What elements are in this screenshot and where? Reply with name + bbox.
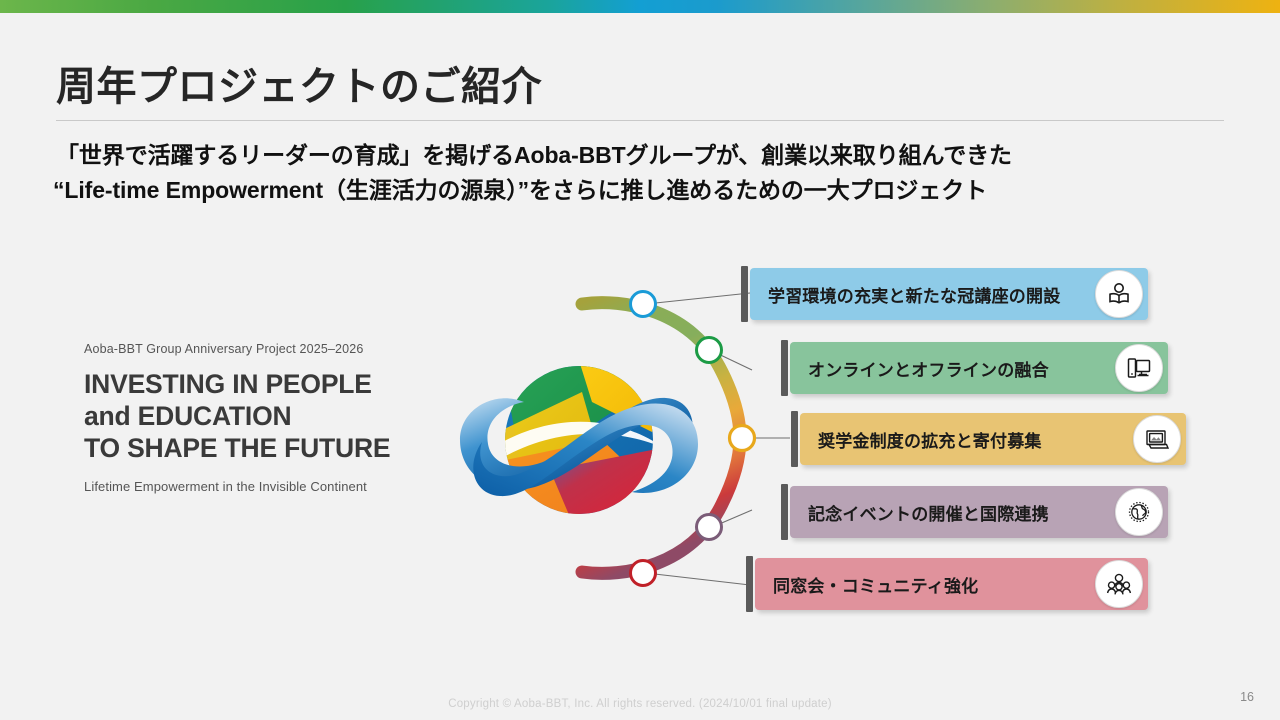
- card-accent-bar: [791, 411, 798, 467]
- item-card-anniversary-event[interactable]: 記念イベントの開催と国際連携: [790, 486, 1168, 538]
- item-card-scholarship-donation[interactable]: 奨学金制度の拡充と寄付募集: [800, 413, 1186, 465]
- card-accent-bar: [746, 556, 753, 612]
- slide-root: 周年プロジェクトのご紹介 「世界で活躍するリーダーの育成」を掲げるAoba-BB…: [0, 0, 1280, 720]
- card-accent-bar: [781, 340, 788, 396]
- brand-subline: Lifetime Empowerment in the Invisible Co…: [84, 479, 424, 494]
- brand-headline: INVESTING IN PEOPLE and EDUCATION TO SHA…: [84, 369, 424, 464]
- item-label: 奨学金制度の拡充と寄付募集: [818, 427, 1042, 452]
- page-title: 周年プロジェクトのご紹介: [56, 54, 542, 112]
- copyright-footer: Copyright © Aoba-BBT, Inc. All rights re…: [0, 698, 1280, 710]
- brand-block: Aoba-BBT Group Anniversary Project 2025–…: [84, 342, 424, 494]
- brand-kicker: Aoba-BBT Group Anniversary Project 2025–…: [84, 342, 424, 356]
- lead-paragraph: 「世界で活躍するリーダーの育成」を掲げるAoba-BBTグループが、創業以来取り…: [56, 138, 1236, 207]
- person-reading-book-icon: [1095, 270, 1143, 318]
- item-card-learning-environment[interactable]: 学習環境の充実と新たな冠講座の開設: [750, 268, 1148, 320]
- desktop-monitor-icon: [1115, 344, 1163, 392]
- title-divider: [56, 120, 1224, 121]
- brand-headline-line-3: TO SHAPE THE FUTURE: [84, 433, 424, 465]
- framed-picture-certificate-icon: [1133, 415, 1181, 463]
- item-label: オンラインとオフラインの融合: [808, 356, 1049, 381]
- globe-international-icon: [1115, 488, 1163, 536]
- brand-headline-line-1: INVESTING IN PEOPLE: [84, 369, 424, 401]
- item-card-online-offline[interactable]: オンラインとオフラインの融合: [790, 342, 1168, 394]
- page-number: 16: [1240, 690, 1254, 704]
- item-card-alumni-community[interactable]: 同窓会・コミュニティ強化: [755, 558, 1148, 610]
- brand-headline-line-2: and EDUCATION: [84, 401, 424, 433]
- item-label: 学習環境の充実と新たな冠講座の開設: [768, 282, 1060, 307]
- gradient-accent-bar: [0, 0, 1280, 13]
- lead-line-2: “Life-time Empowerment（生涯活力の源泉）”をさらに推し進め…: [53, 173, 1236, 208]
- lead-line-1: 「世界で活躍するリーダーの育成」を掲げるAoba-BBTグループが、創業以来取り…: [56, 142, 1012, 168]
- card-accent-bar: [781, 484, 788, 540]
- item-label: 記念イベントの開催と国際連携: [808, 500, 1049, 525]
- people-group-icon: [1095, 560, 1143, 608]
- card-accent-bar: [741, 266, 748, 322]
- item-label: 同窓会・コミュニティ強化: [773, 572, 978, 597]
